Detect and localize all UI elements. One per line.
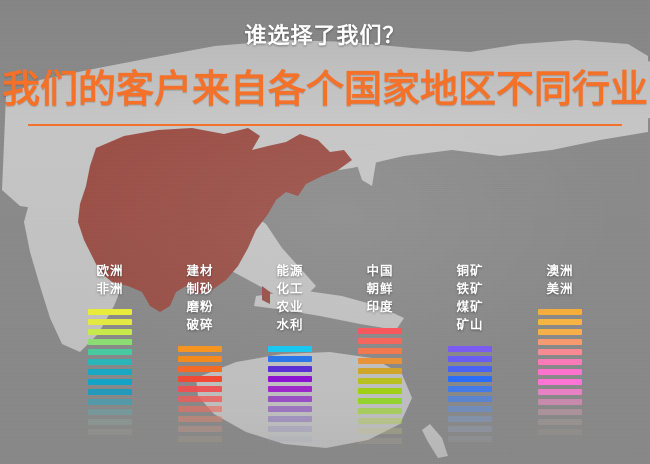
gradient-bar — [358, 358, 402, 364]
gradient-bar — [268, 436, 312, 442]
gradient-bar — [88, 329, 132, 335]
gradient-bar — [268, 406, 312, 412]
gradient-bar — [88, 309, 132, 315]
gradient-bar — [178, 376, 222, 382]
country-column-4: 中国朝鲜印度 — [332, 262, 428, 448]
gradient-bar — [538, 419, 582, 425]
category-columns: 欧洲非洲建材制砂磨粉破碎能源化工农业水利中国朝鲜印度铜矿铁矿煤矿矿山澳洲美洲 — [0, 0, 650, 464]
gradient-bar — [358, 408, 402, 414]
gradient-bar — [358, 428, 402, 434]
column-label[interactable]: 铜矿 — [422, 262, 518, 280]
gradient-bar — [358, 438, 402, 444]
gradient-bar-group — [152, 346, 248, 446]
column-label[interactable]: 煤矿 — [422, 298, 518, 316]
gradient-bar — [448, 366, 492, 372]
column-label[interactable]: 印度 — [332, 298, 428, 316]
gradient-bar — [88, 369, 132, 375]
column-label[interactable]: 水利 — [242, 316, 338, 334]
gradient-bar — [448, 376, 492, 382]
slide-canvas: 谁选择了我们？ 我们的客户来自各个国家地区不同行业 欧洲非洲建材制砂磨粉破碎能源… — [0, 0, 650, 464]
column-label[interactable]: 非洲 — [62, 280, 158, 298]
column-label-group: 能源化工农业水利 — [242, 262, 338, 334]
gradient-bar — [88, 359, 132, 365]
column-label[interactable]: 朝鲜 — [332, 280, 428, 298]
gradient-bar — [178, 426, 222, 432]
column-label-group: 铜矿铁矿煤矿矿山 — [422, 262, 518, 334]
gradient-bar — [178, 356, 222, 362]
gradient-bar — [448, 416, 492, 422]
gradient-bar — [538, 399, 582, 405]
column-label[interactable]: 中国 — [332, 262, 428, 280]
column-label-group: 欧洲非洲 — [62, 262, 158, 298]
gradient-bar — [178, 416, 222, 422]
industry-column-3: 能源化工农业水利 — [242, 262, 338, 446]
gradient-bar — [538, 379, 582, 385]
gradient-bar — [538, 369, 582, 375]
gradient-bar-group — [332, 328, 428, 448]
column-label[interactable]: 美洲 — [512, 280, 608, 298]
gradient-bar — [88, 379, 132, 385]
gradient-bar — [358, 388, 402, 394]
gradient-bar — [538, 339, 582, 345]
gradient-bar — [178, 436, 222, 442]
mining-column-5: 铜矿铁矿煤矿矿山 — [422, 262, 518, 446]
column-label[interactable]: 建材 — [152, 262, 248, 280]
gradient-bar-group — [62, 309, 158, 439]
column-label-group: 建材制砂磨粉破碎 — [152, 262, 248, 334]
gradient-bar — [448, 346, 492, 352]
column-label[interactable]: 农业 — [242, 298, 338, 316]
gradient-bar — [178, 396, 222, 402]
gradient-bar-group — [512, 309, 608, 439]
gradient-bar — [88, 319, 132, 325]
gradient-bar — [268, 416, 312, 422]
gradient-bar — [268, 426, 312, 432]
gradient-bar — [88, 419, 132, 425]
gradient-bar — [538, 349, 582, 355]
gradient-bar — [358, 418, 402, 424]
column-label[interactable]: 破碎 — [152, 316, 248, 334]
gradient-bar — [448, 386, 492, 392]
column-label[interactable]: 铁矿 — [422, 280, 518, 298]
gradient-bar — [268, 376, 312, 382]
gradient-bar — [358, 328, 402, 334]
gradient-bar — [358, 368, 402, 374]
gradient-bar — [178, 346, 222, 352]
gradient-bar — [268, 386, 312, 392]
gradient-bar — [178, 406, 222, 412]
gradient-bar — [88, 429, 132, 435]
gradient-bar — [268, 366, 312, 372]
gradient-bar — [178, 366, 222, 372]
gradient-bar-group — [422, 346, 518, 446]
gradient-bar — [538, 409, 582, 415]
gradient-bar — [448, 436, 492, 442]
gradient-bar — [88, 409, 132, 415]
column-label[interactable]: 澳洲 — [512, 262, 608, 280]
gradient-bar — [358, 348, 402, 354]
gradient-bar — [268, 346, 312, 352]
gradient-bar — [358, 398, 402, 404]
gradient-bar — [268, 396, 312, 402]
gradient-bar — [538, 389, 582, 395]
column-label[interactable]: 化工 — [242, 280, 338, 298]
gradient-bar — [88, 349, 132, 355]
gradient-bar — [538, 429, 582, 435]
continent-column-6: 澳洲美洲 — [512, 262, 608, 439]
gradient-bar — [448, 406, 492, 412]
gradient-bar — [538, 359, 582, 365]
gradient-bar — [538, 319, 582, 325]
gradient-bar — [88, 389, 132, 395]
gradient-bar — [268, 356, 312, 362]
column-label-group: 中国朝鲜印度 — [332, 262, 428, 316]
product-column-2: 建材制砂磨粉破碎 — [152, 262, 248, 446]
gradient-bar-group — [242, 346, 338, 446]
gradient-bar — [178, 386, 222, 392]
gradient-bar — [538, 309, 582, 315]
column-label[interactable]: 制砂 — [152, 280, 248, 298]
column-label[interactable]: 能源 — [242, 262, 338, 280]
column-label[interactable]: 磨粉 — [152, 298, 248, 316]
gradient-bar — [88, 339, 132, 345]
gradient-bar — [448, 426, 492, 432]
gradient-bar — [538, 329, 582, 335]
gradient-bar — [448, 396, 492, 402]
region-column-1: 欧洲非洲 — [62, 262, 158, 439]
gradient-bar — [358, 378, 402, 384]
column-label[interactable]: 欧洲 — [62, 262, 158, 280]
gradient-bar — [358, 338, 402, 344]
column-label-group: 澳洲美洲 — [512, 262, 608, 298]
column-label[interactable]: 矿山 — [422, 316, 518, 334]
gradient-bar — [448, 356, 492, 362]
gradient-bar — [88, 399, 132, 405]
